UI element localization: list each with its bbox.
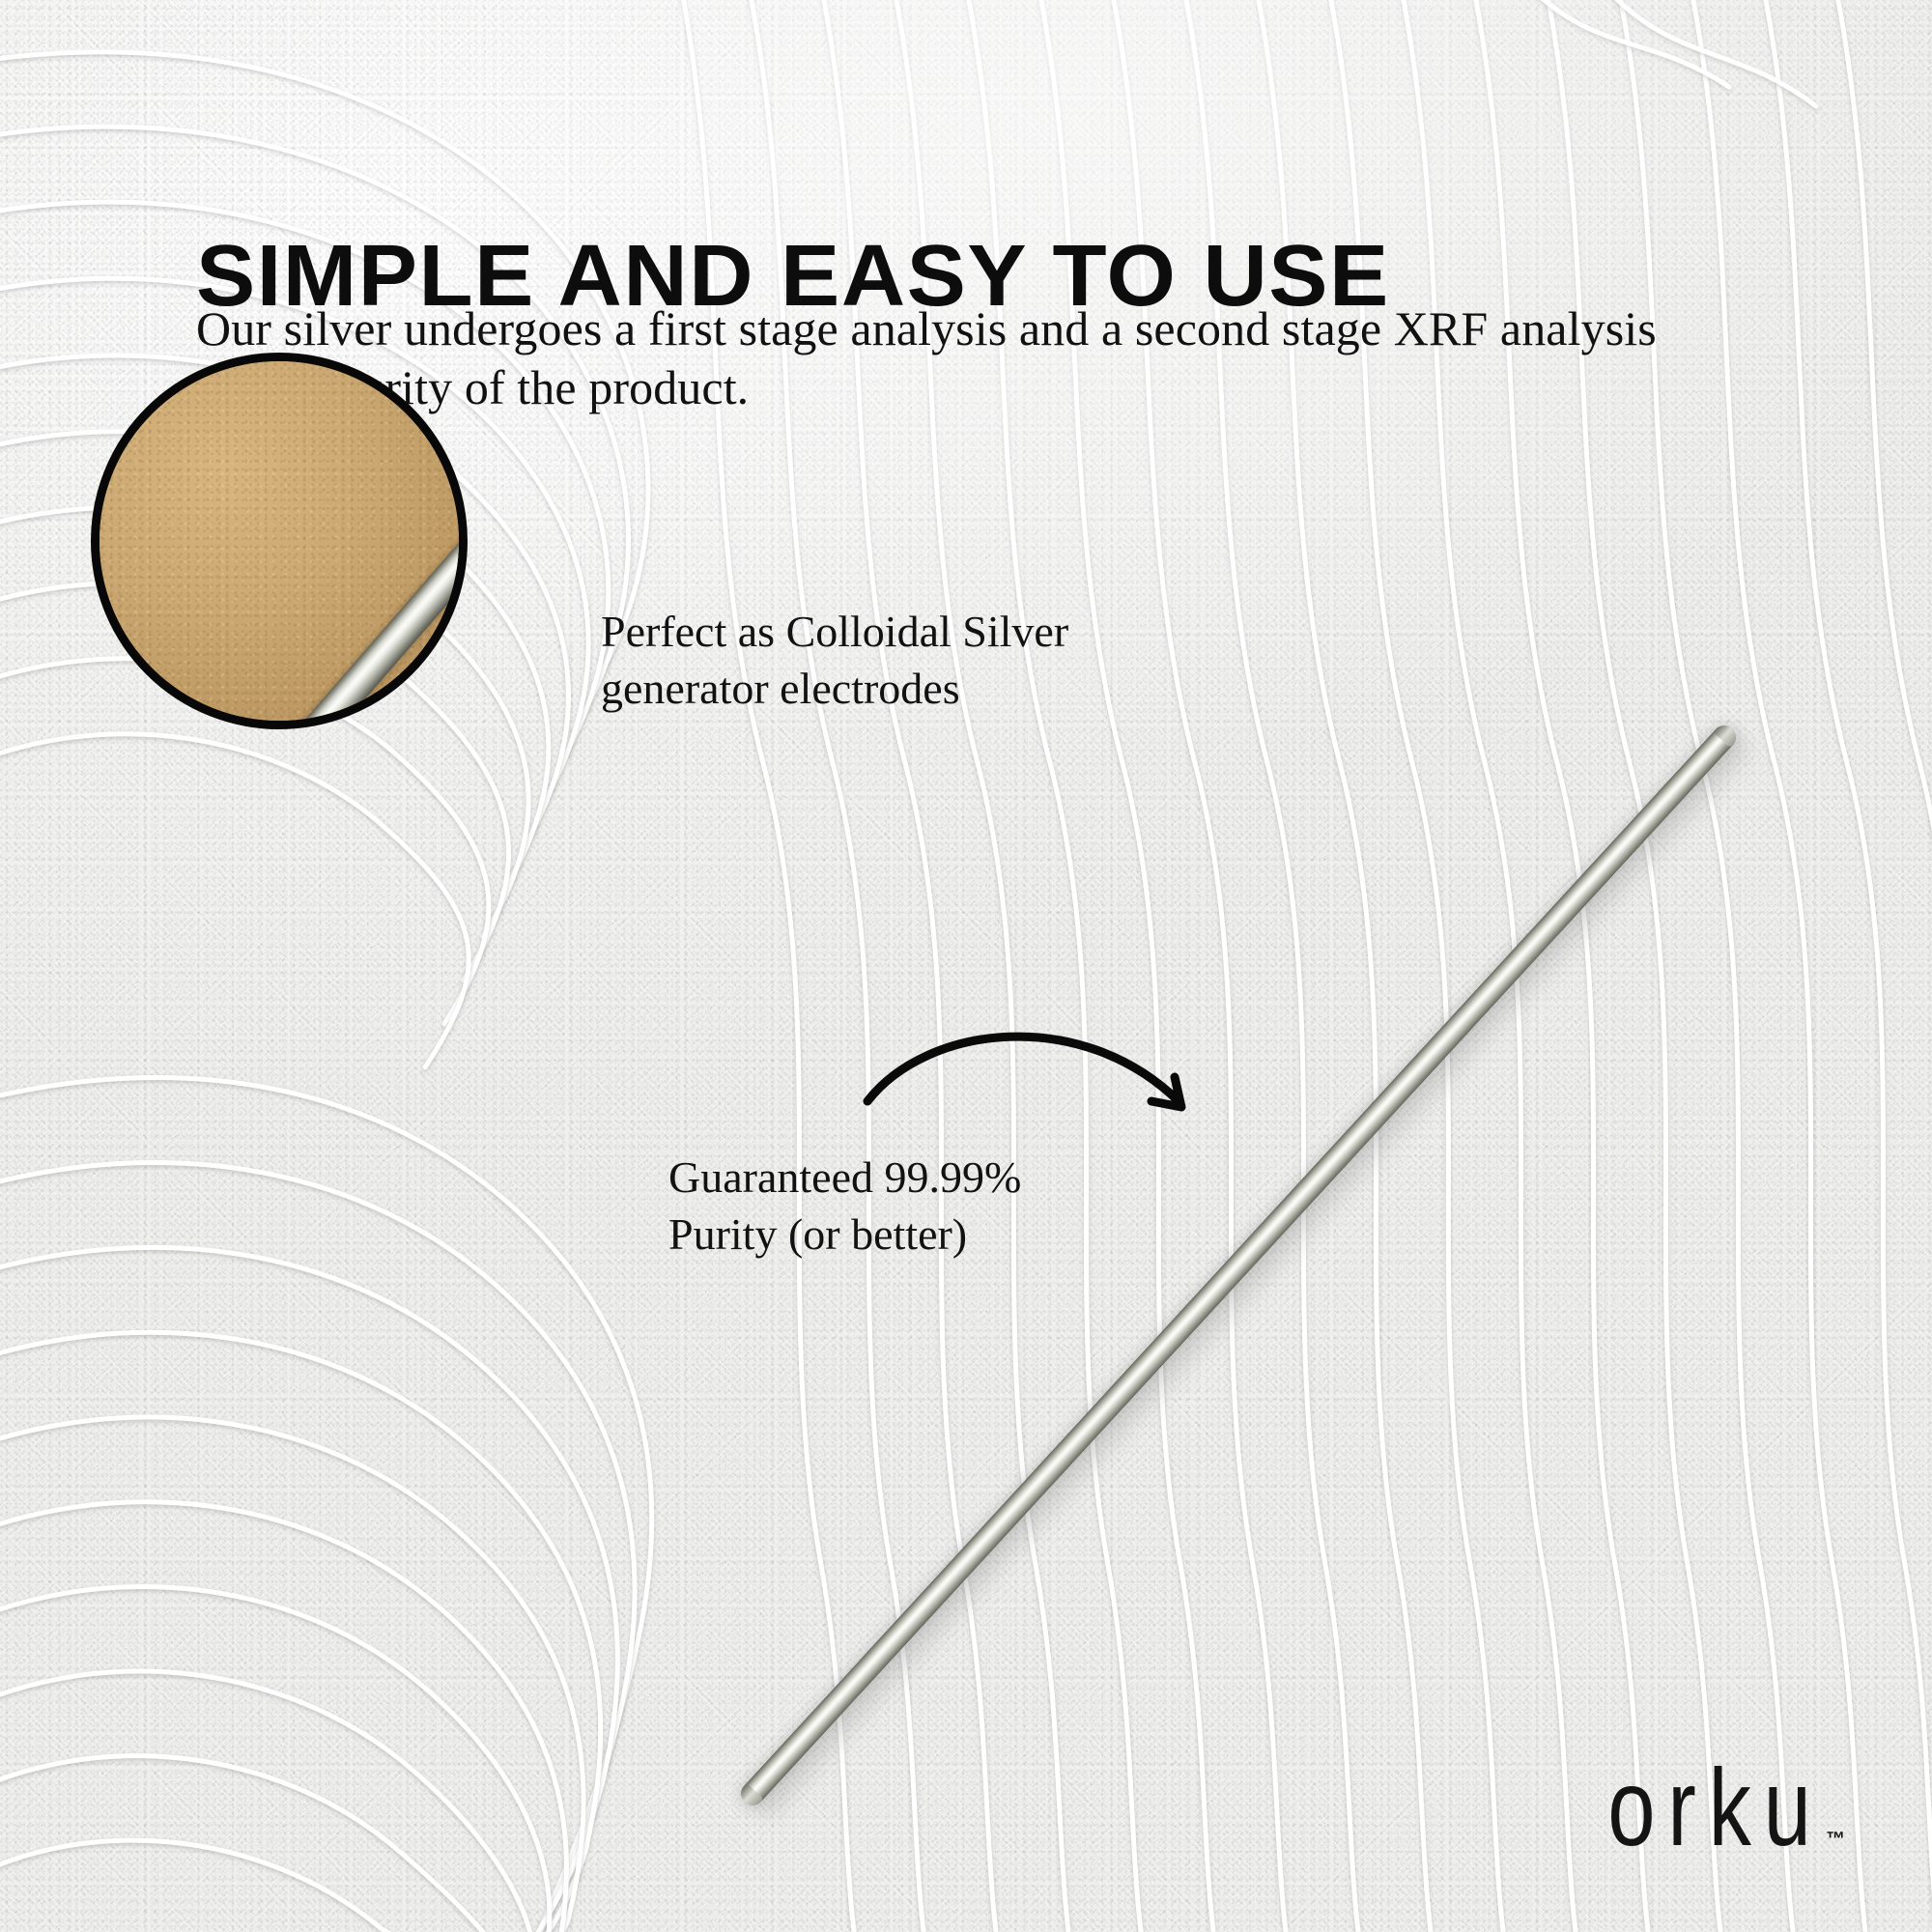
brand-logo: orku ™: [1589, 1774, 1845, 1859]
caption-guarantee-line-2: Purity (or better): [668, 1207, 1021, 1264]
brand-logo-wordmark: orku: [1608, 1758, 1824, 1859]
curved-arrow-icon: [860, 985, 1246, 1169]
subtitle-line-1: Our silver undergoes a first stage analy…: [196, 299, 1780, 358]
caption-electrodes-line-2: generator electrodes: [601, 661, 1068, 718]
caption-purity-guarantee: Guaranteed 99.99% Purity (or better): [668, 1150, 1021, 1264]
product-infographic: SIMPLE AND EASY TO USE Our silver underg…: [0, 0, 1932, 1932]
caption-guarantee-line-1: Guaranteed 99.99%: [668, 1150, 1021, 1207]
kraft-paper-grain: [91, 353, 468, 729]
trademark-symbol: ™: [1826, 1829, 1845, 1851]
caption-electrodes-line-1: Perfect as Colloidal Silver: [601, 604, 1068, 661]
caption-electrodes: Perfect as Colloidal Silver generator el…: [601, 604, 1068, 718]
silver-rods-closeup-photo: [91, 353, 468, 729]
